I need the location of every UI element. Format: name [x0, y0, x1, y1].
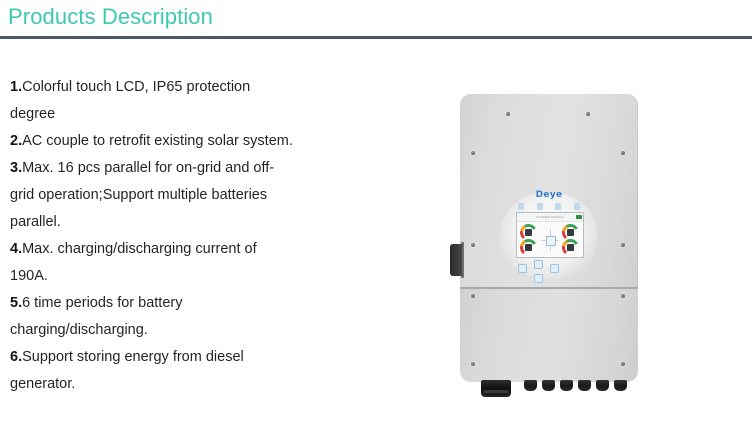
nav-left-button[interactable] — [518, 264, 527, 273]
screw — [586, 112, 590, 116]
battery-icon — [576, 215, 582, 219]
list-item-text: Max. charging/discharging current of 190… — [10, 241, 257, 284]
nav-enter-button[interactable] — [534, 274, 543, 283]
inverter-lower-casing — [460, 289, 638, 382]
list-item: 1.Colorful touch LCD, IP65 protection de… — [10, 74, 295, 128]
list-item: 4.Max. charging/discharging current of 1… — [10, 236, 295, 290]
screw — [621, 294, 625, 298]
screw — [471, 151, 475, 155]
screw — [471, 362, 475, 366]
inverter-unit: Deye SYSTEM STATUS — [460, 94, 638, 376]
list-item: 5.6 time periods for battery charging/di… — [10, 290, 295, 344]
products-description-list: 1.Colorful touch LCD, IP65 protection de… — [10, 74, 295, 398]
list-item: 6.Support storing energy from diesel gen… — [10, 344, 295, 398]
list-item-number: 1. — [10, 79, 22, 95]
list-item-number: 5. — [10, 295, 22, 311]
list-item-number: 2. — [10, 133, 22, 149]
list-item: 3.Max. 16 pcs parallel for on-grid and o… — [10, 155, 295, 236]
status-led — [537, 203, 543, 210]
list-item-text: Support storing energy from diesel gener… — [10, 349, 244, 392]
cable-connector — [596, 380, 609, 391]
cable-connector — [560, 380, 573, 391]
status-led — [518, 203, 524, 210]
gauge-battery — [520, 239, 537, 256]
status-led — [574, 203, 580, 210]
cable-connector — [614, 380, 627, 391]
nav-up-button[interactable] — [534, 260, 543, 269]
screw — [621, 243, 625, 247]
screw — [471, 294, 475, 298]
list-item-text: 6 time periods for battery charging/disc… — [10, 295, 182, 338]
cable-connector — [578, 380, 591, 391]
screw — [621, 151, 625, 155]
list-item-number: 6. — [10, 349, 22, 365]
title-divider — [0, 36, 752, 39]
nav-right-button[interactable] — [550, 264, 559, 273]
pv-icon — [525, 229, 532, 236]
screw — [621, 362, 625, 366]
lcd-screen[interactable]: SYSTEM STATUS — [516, 212, 584, 258]
list-item-text: AC couple to retrofit existing solar sys… — [22, 133, 293, 149]
list-item-number: 4. — [10, 241, 22, 257]
list-item-number: 3. — [10, 160, 22, 176]
list-item: 2.AC couple to retrofit existing solar s… — [10, 128, 295, 155]
status-led-row — [518, 203, 580, 210]
screw — [471, 243, 475, 247]
load-icon — [567, 244, 574, 251]
cable-connector — [542, 380, 555, 391]
product-image: Deye SYSTEM STATUS — [420, 60, 700, 410]
inverter-hub-icon — [546, 236, 556, 246]
mounting-bracket — [450, 244, 462, 276]
energy-flow-diagram — [541, 229, 559, 251]
status-led — [555, 203, 561, 210]
gauge-load — [562, 239, 579, 256]
screw — [506, 112, 510, 116]
grid-icon — [567, 229, 574, 236]
battery-gauge-icon — [525, 244, 532, 251]
main-cable-gland — [481, 380, 511, 397]
brand-logo: Deye — [528, 190, 570, 200]
list-item-text: Colorful touch LCD, IP65 protection degr… — [10, 79, 250, 122]
lcd-status-text: SYSTEM STATUS — [517, 213, 583, 222]
cable-connector — [524, 380, 537, 391]
list-item-text: Max. 16 pcs parallel for on-grid and off… — [10, 160, 274, 230]
page-title: Products Description — [8, 2, 213, 32]
